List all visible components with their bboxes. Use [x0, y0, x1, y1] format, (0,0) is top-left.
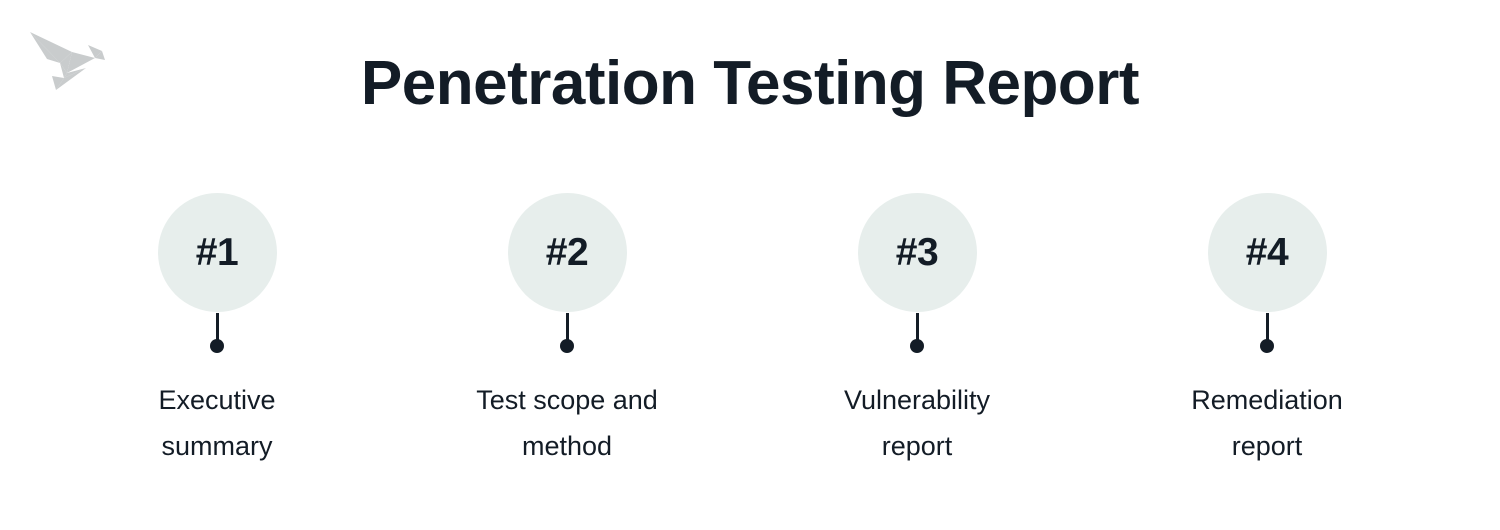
- step-label-line-1b: summary: [158, 423, 275, 469]
- step-label-line-1a: Executive: [158, 377, 275, 423]
- step-connector-dot-3: [910, 339, 924, 353]
- step-label-line-4a: Remediation: [1191, 377, 1343, 423]
- step-badge-label-3: #3: [896, 233, 938, 272]
- step-connector-line-3: [916, 313, 919, 340]
- step-badge-2: #2: [508, 193, 627, 312]
- step-connector-line-1: [216, 313, 219, 340]
- step-connector-dot-1: [210, 339, 224, 353]
- step-connector-dot-2: [560, 339, 574, 353]
- step-label-line-2a: Test scope and: [476, 377, 658, 423]
- step-badge-label-4: #4: [1246, 233, 1288, 272]
- step-label-3: Vulnerability report: [844, 377, 990, 469]
- step-label-2: Test scope and method: [476, 377, 658, 469]
- step-item-4[interactable]: #4 Remediation report: [1092, 193, 1442, 469]
- step-label-4: Remediation report: [1191, 377, 1343, 469]
- slide-canvas: Penetration Testing Report #1 Executive …: [0, 0, 1500, 530]
- step-connector-line-2: [566, 313, 569, 340]
- step-label-line-2b: method: [476, 423, 658, 469]
- step-item-3[interactable]: #3 Vulnerability report: [742, 193, 1092, 469]
- step-badge-1: #1: [158, 193, 277, 312]
- step-label-line-4b: report: [1191, 423, 1343, 469]
- step-label-line-3a: Vulnerability: [844, 377, 990, 423]
- step-item-1[interactable]: #1 Executive summary: [42, 193, 392, 469]
- steps-row: #1 Executive summary #2 Test scope and m…: [0, 193, 1500, 469]
- step-badge-4: #4: [1208, 193, 1327, 312]
- step-badge-label-2: #2: [546, 233, 588, 272]
- step-item-2[interactable]: #2 Test scope and method: [392, 193, 742, 469]
- step-badge-label-1: #1: [196, 233, 238, 272]
- step-badge-3: #3: [858, 193, 977, 312]
- step-label-1: Executive summary: [158, 377, 275, 469]
- step-label-line-3b: report: [844, 423, 990, 469]
- step-connector-dot-4: [1260, 339, 1274, 353]
- page-title: Penetration Testing Report: [0, 48, 1500, 120]
- step-connector-line-4: [1266, 313, 1269, 340]
